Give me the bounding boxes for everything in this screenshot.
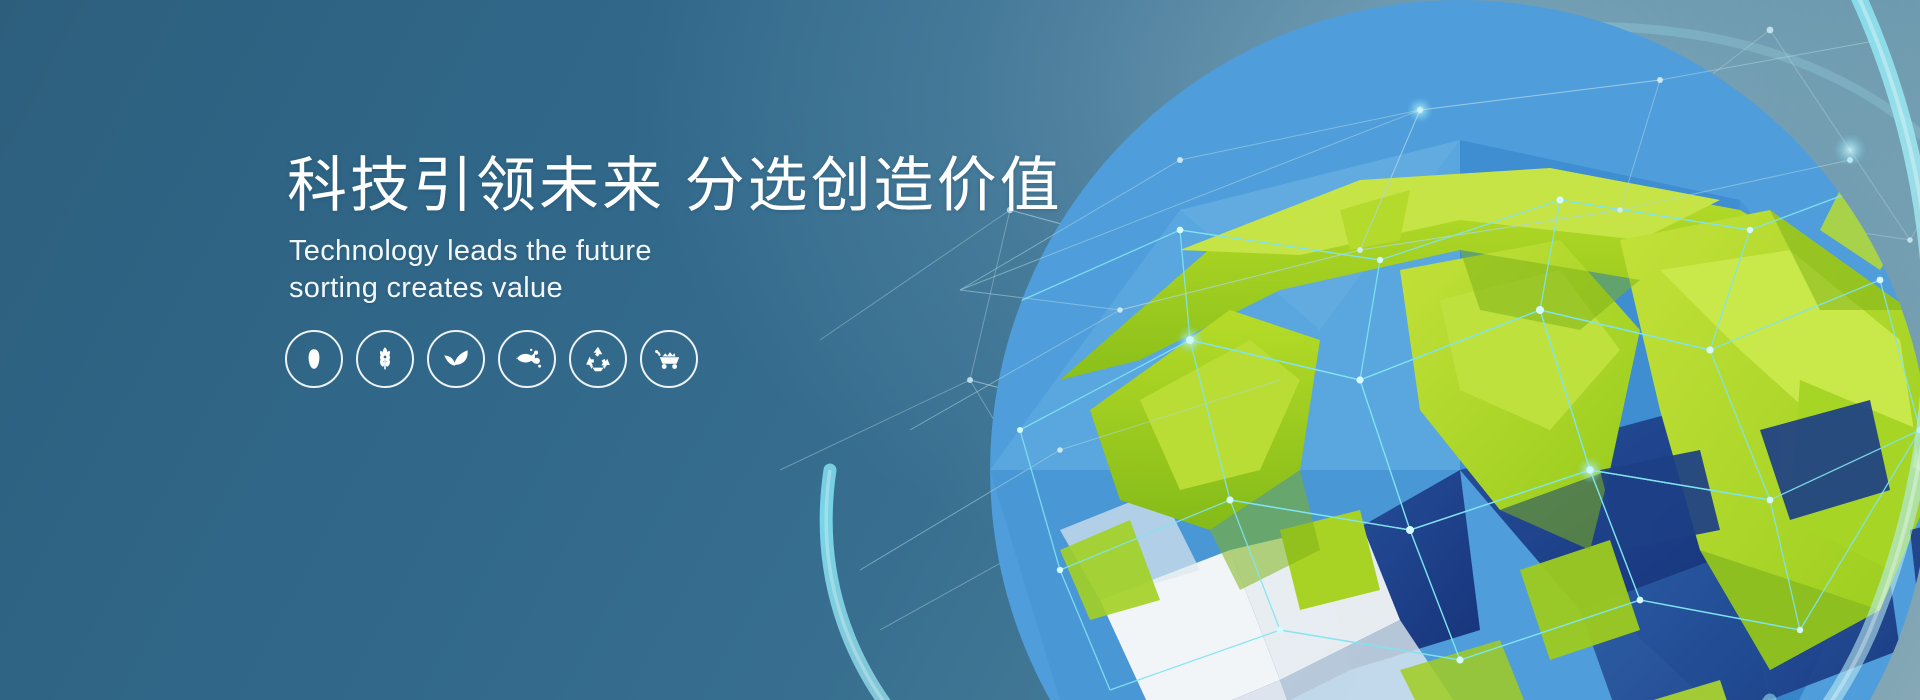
icon-badge-mining-cart[interactable] xyxy=(640,330,698,388)
wheat-ear-icon xyxy=(371,345,399,373)
globe-graphic xyxy=(760,0,1920,700)
globe-sphere xyxy=(990,0,1920,700)
recycle-icon xyxy=(584,345,612,373)
subtitle-line-1: Technology leads the future xyxy=(289,233,1047,270)
subtitle-line-2: sorting creates value xyxy=(289,270,1047,307)
icon-badge-recycle[interactable] xyxy=(569,330,627,388)
icon-badge-tea-leaf[interactable] xyxy=(427,330,485,388)
tea-leaf-icon xyxy=(441,346,471,372)
icon-badge-wheat-ear[interactable] xyxy=(356,330,414,388)
page-title: 科技引领未来 分选创造价值 xyxy=(287,152,1047,219)
fish-icon xyxy=(512,347,542,371)
banner-subtitle: Technology leads the future sorting crea… xyxy=(289,233,1047,307)
rice-grain-icon xyxy=(301,346,327,372)
mining-cart-icon xyxy=(654,347,684,371)
hero-banner: 科技引领未来 分选创造价值 Technology leads the futur… xyxy=(0,0,1920,700)
icon-badge-rice-grain[interactable] xyxy=(285,330,343,388)
banner-copy: 科技引领未来 分选创造价值 Technology leads the futur… xyxy=(287,152,1047,307)
industry-icon-row xyxy=(285,330,698,388)
icon-badge-fish[interactable] xyxy=(498,330,556,388)
